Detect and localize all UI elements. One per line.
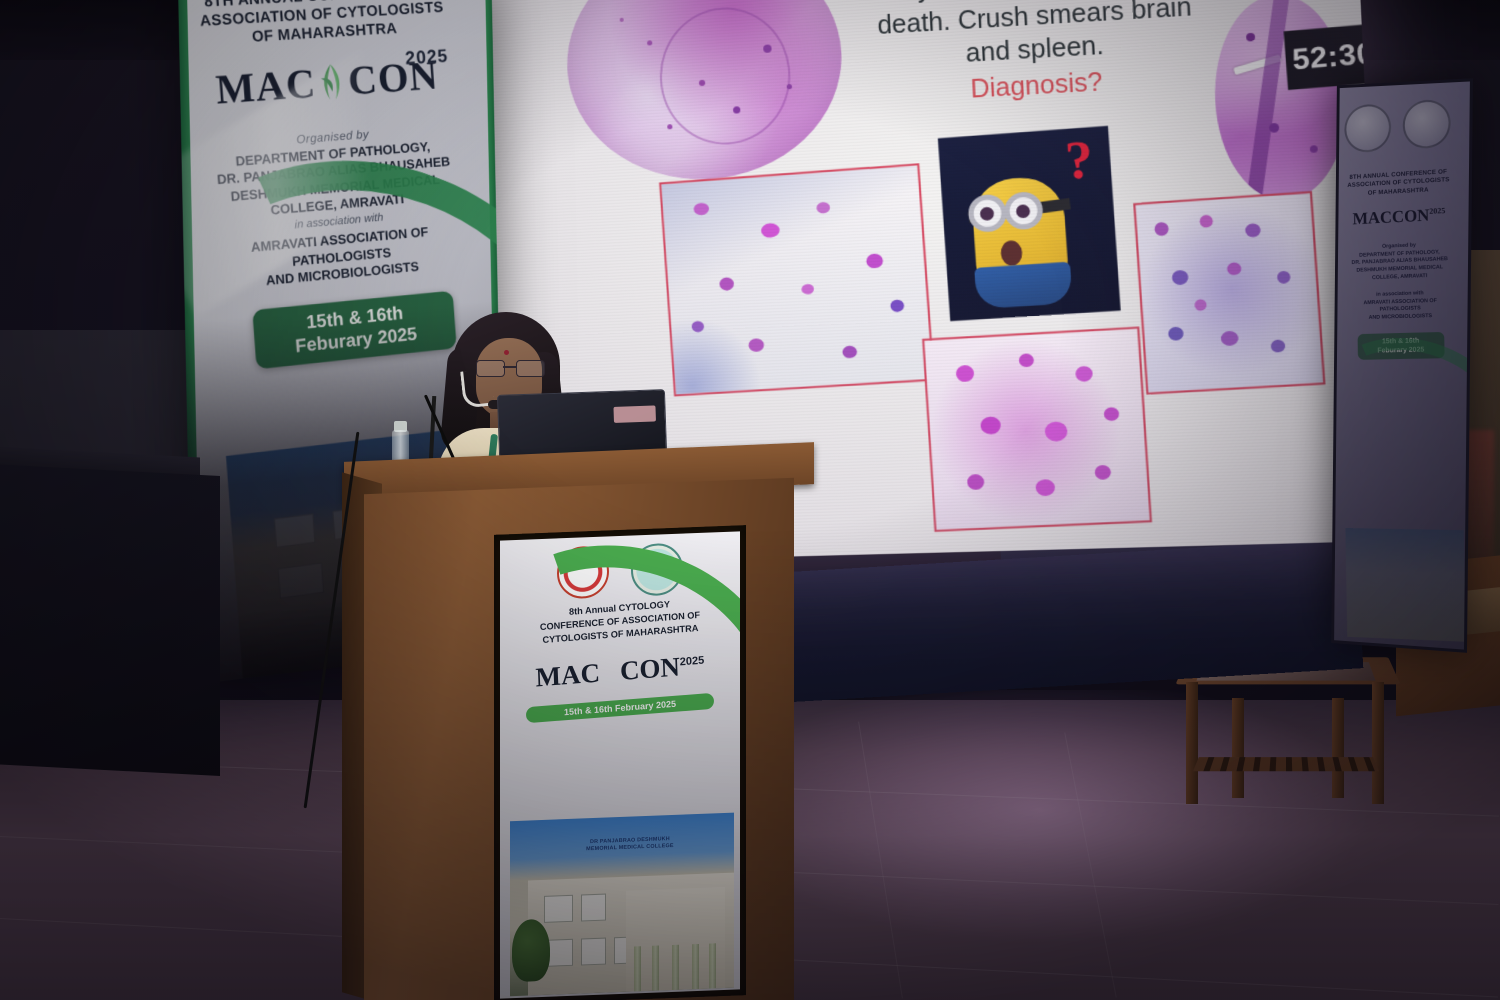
av-equipment-rack (0, 464, 220, 776)
banner-right-swoosh (1331, 309, 1473, 551)
slide-case-text: 5 yrs/ M, fever. Sudden death. Crush sme… (857, 0, 1215, 112)
logo-con: CON (1392, 205, 1430, 226)
leaf-icon (315, 61, 350, 102)
minion-overalls (974, 262, 1073, 309)
confused-minion-card: ? (938, 126, 1121, 321)
banner-right-college-photo (1345, 528, 1465, 642)
society-logo-icon (1344, 103, 1391, 154)
standee-banner-right: 8TH ANNUAL CONFERENCE OF ASSOCIATION OF … (1331, 78, 1473, 653)
college-building-sign: DR PANJABRAO DESHMUKH MEMORIAL MEDICAL C… (586, 836, 674, 853)
lectern-banner-frame: 8th Annual CYTOLOGY CONFERENCE OF ASSOCI… (494, 525, 746, 1000)
side-table-leg (1232, 698, 1244, 798)
logo-year: 2025 (405, 46, 449, 70)
conference-photo-scene: 5 yrs/ M, fever. Sudden death. Crush sme… (0, 0, 1500, 1000)
microscopy-circle-large (562, 0, 847, 186)
laptop (497, 389, 667, 457)
college-building-portico (626, 886, 725, 991)
tree (512, 919, 550, 982)
side-table-leg (1372, 682, 1384, 804)
banner-right-association: in association with AMRAVATI ASSOCIATION… (1341, 289, 1460, 323)
lectern: 8th Annual CYTOLOGY CONFERENCE OF ASSOCI… (344, 452, 814, 1000)
banner-right-organiser: Organised by DEPARTMENT OF PATHOLOGY, DR… (1341, 240, 1460, 283)
logo-mac: MAC (1352, 207, 1392, 228)
microscopy-panel-bottom (922, 327, 1152, 532)
banner-right-dates: 15th & 16th Feburary 2025 (1358, 332, 1445, 360)
question-mark-icon: ? (1063, 133, 1095, 189)
lectern-banner: 8th Annual CYTOLOGY CONFERENCE OF ASSOCI… (500, 531, 740, 998)
slide-diagnosis-question: Diagnosis? (861, 59, 1215, 112)
maccon-logo: MAC CON 2025 (179, 51, 474, 117)
side-table-shelf (1193, 757, 1379, 771)
logo-year: 2025 (1429, 206, 1445, 216)
laptop-lid (497, 389, 667, 457)
lectern-college-photo: DR PANJABRAO DESHMUKH MEMORIAL MEDICAL C… (510, 813, 734, 997)
maccon-logo-right: MACCON2025 (1334, 204, 1464, 231)
presenter-bindi (504, 350, 509, 355)
banner-title: 8TH ANNUAL CONFERENCE OF ASSOCIATION OF … (178, 0, 469, 52)
side-table-leg (1332, 698, 1344, 798)
logo-mac: MAC (214, 62, 317, 114)
banner-right-logos (1332, 90, 1463, 161)
microscopy-panel-left (659, 163, 935, 396)
association-logo-icon (1402, 98, 1451, 150)
microscopy-panel-right (1133, 191, 1325, 394)
banner-right-title: 8TH ANNUAL CONFERENCE OF ASSOCIATION OF … (1339, 168, 1457, 200)
laptop-sticker (613, 405, 656, 422)
side-table-leg (1186, 682, 1198, 804)
